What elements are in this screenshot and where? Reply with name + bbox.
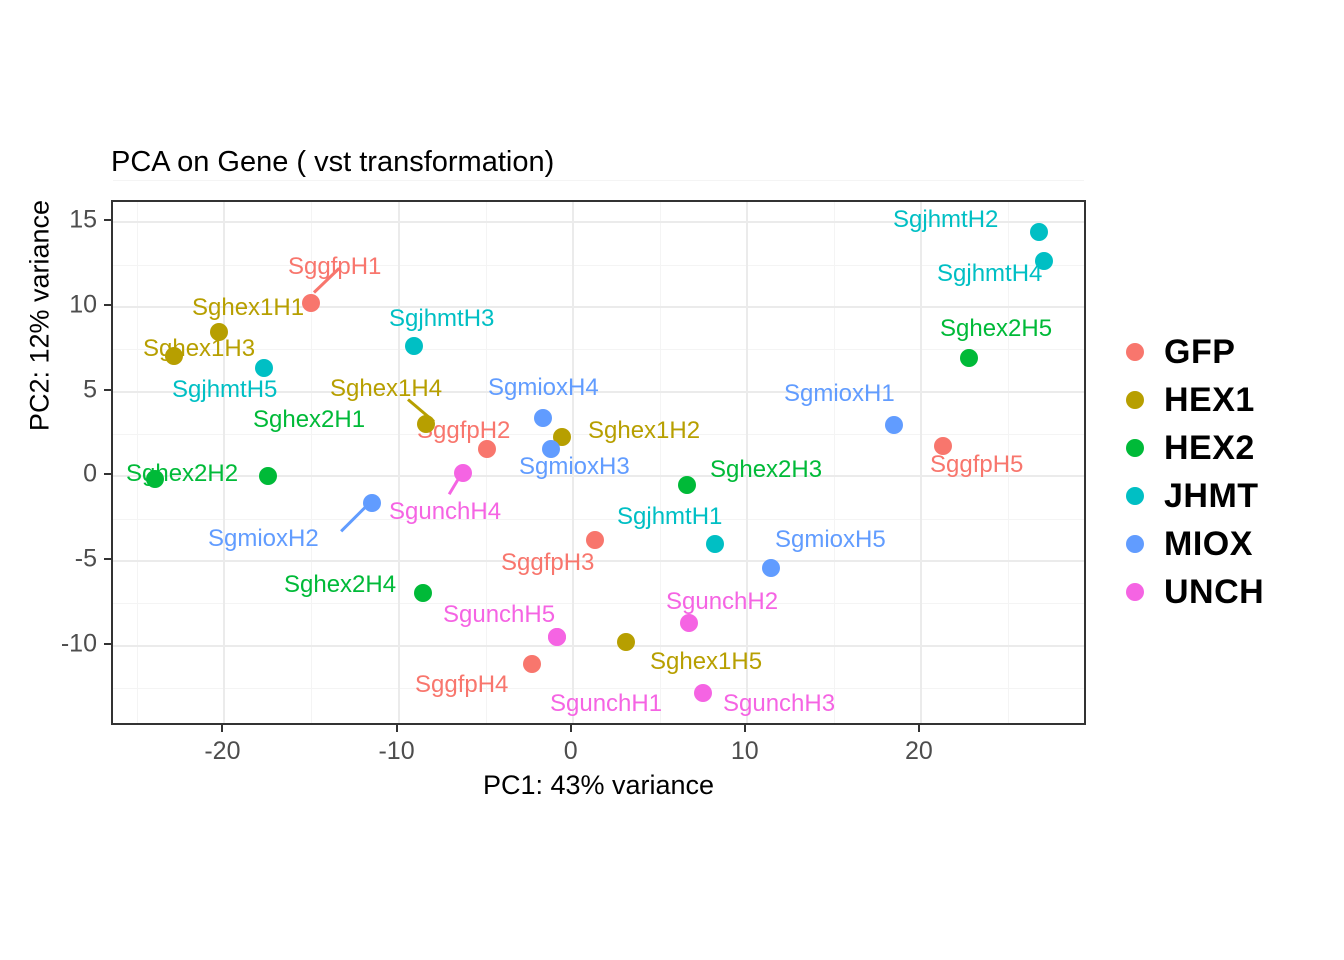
legend-item-hex2[interactable]: HEX2: [1126, 424, 1264, 472]
point-label: SgmioxH5: [775, 528, 886, 552]
point-label: Sghex1H2: [588, 419, 700, 443]
legend-item-label: UNCH: [1164, 573, 1264, 612]
legend-key-dot-icon: [1126, 439, 1144, 457]
legend-item-label: HEX2: [1164, 429, 1255, 468]
point-label: SgjhmtH2: [893, 208, 998, 232]
x-tick-label: 20: [905, 737, 933, 766]
point-label: SggfpH1: [288, 255, 381, 279]
chart-title: PCA on Gene ( vst transformation): [111, 146, 554, 179]
gridline-minor-y: [113, 603, 1084, 604]
gridline-minor-y: [113, 688, 1084, 689]
data-point[interactable]: [934, 437, 952, 455]
x-tick-label: 10: [731, 737, 759, 766]
data-point[interactable]: [417, 415, 435, 433]
point-label: SgunchH1: [550, 692, 662, 716]
point-label: Sghex2H3: [710, 458, 822, 482]
data-point[interactable]: [210, 323, 228, 341]
legend-item-label: MIOX: [1164, 525, 1253, 564]
data-point[interactable]: [146, 470, 164, 488]
point-label: SggfpH3: [501, 551, 594, 575]
legend-item-label: HEX1: [1164, 381, 1255, 420]
y-tick-mark: [104, 558, 111, 560]
data-point[interactable]: [478, 440, 496, 458]
data-point[interactable]: [706, 535, 724, 553]
data-point[interactable]: [548, 628, 566, 646]
legend-item-gfp[interactable]: GFP: [1126, 328, 1264, 376]
data-point[interactable]: [454, 464, 472, 482]
data-point[interactable]: [534, 409, 552, 427]
legend-key-dot-icon: [1126, 583, 1144, 601]
data-point[interactable]: [414, 584, 432, 602]
legend: GFPHEX1HEX2JHMTMIOXUNCH: [1126, 328, 1264, 616]
gridline-major-y: [113, 645, 1084, 647]
data-point[interactable]: [586, 531, 604, 549]
legend-key-dot-icon: [1126, 487, 1144, 505]
data-point[interactable]: [680, 614, 698, 632]
point-label: Sghex1H4: [330, 377, 442, 401]
point-label: SgunchH2: [666, 590, 778, 614]
legend-item-label: JHMT: [1164, 477, 1259, 516]
data-point[interactable]: [960, 349, 978, 367]
data-point[interactable]: [678, 476, 696, 494]
point-label: Sghex1H1: [192, 296, 304, 320]
x-tick-mark: [744, 725, 746, 732]
data-point[interactable]: [1035, 252, 1053, 270]
point-label: SgmioxH4: [488, 376, 599, 400]
y-tick-label: -10: [25, 629, 97, 658]
data-point[interactable]: [762, 559, 780, 577]
point-label: SgmioxH2: [208, 527, 319, 551]
legend-item-jhmt[interactable]: JHMT: [1126, 472, 1264, 520]
data-point[interactable]: [885, 416, 903, 434]
point-label: Sghex2H5: [940, 317, 1052, 341]
point-label: SgunchH4: [389, 500, 501, 524]
legend-item-unch[interactable]: UNCH: [1126, 568, 1264, 616]
y-tick-mark: [104, 219, 111, 221]
legend-key-dot-icon: [1126, 391, 1144, 409]
x-tick-mark: [396, 725, 398, 732]
data-point[interactable]: [542, 440, 560, 458]
point-label: SgjhmtH1: [617, 505, 722, 529]
legend-item-miox[interactable]: MIOX: [1126, 520, 1264, 568]
data-point[interactable]: [255, 359, 273, 377]
x-tick-mark: [221, 725, 223, 732]
y-tick-mark: [104, 389, 111, 391]
gridline-minor-y: [113, 349, 1084, 350]
x-tick-mark: [918, 725, 920, 732]
point-label: Sghex2H4: [284, 573, 396, 597]
point-label: SgmioxH1: [784, 382, 895, 406]
x-tick-label: 0: [564, 737, 578, 766]
pca-figure: PCA on Gene ( vst transformation) -20-10…: [0, 0, 1344, 960]
point-label: SgunchH3: [723, 692, 835, 716]
y-tick-mark: [104, 304, 111, 306]
x-axis-title: PC1: 43% variance: [111, 770, 1086, 801]
y-tick-mark: [104, 473, 111, 475]
y-tick-label: -5: [25, 545, 97, 574]
point-label: SgjhmtH3: [389, 307, 494, 331]
x-tick-label: -20: [204, 737, 240, 766]
data-point[interactable]: [617, 633, 635, 651]
x-tick-label: -10: [378, 737, 414, 766]
x-tick-mark: [570, 725, 572, 732]
point-label: Sghex2H2: [126, 462, 238, 486]
point-label: Sghex1H5: [650, 650, 762, 674]
legend-item-label: GFP: [1164, 333, 1235, 372]
data-point[interactable]: [259, 467, 277, 485]
data-point[interactable]: [1030, 223, 1048, 241]
point-label: Sghex1H3: [143, 337, 255, 361]
data-point[interactable]: [165, 347, 183, 365]
point-label: SgmioxH3: [519, 455, 630, 479]
data-point[interactable]: [523, 655, 541, 673]
data-point[interactable]: [405, 337, 423, 355]
gridline-minor-y: [113, 519, 1084, 520]
y-axis-title: PC2: 12% variance: [25, 116, 56, 516]
legend-key-dot-icon: [1126, 535, 1144, 553]
point-label: SgjhmtH5: [172, 378, 277, 402]
point-label: Sghex2H1: [253, 408, 365, 432]
data-point[interactable]: [694, 684, 712, 702]
point-label: SgjhmtH4: [937, 262, 1042, 286]
gridline-minor-y: [113, 180, 1084, 181]
gridline-major-y: [113, 560, 1084, 562]
legend-key-dot-icon: [1126, 343, 1144, 361]
point-label: SggfpH5: [930, 453, 1023, 477]
data-point[interactable]: [363, 494, 381, 512]
y-tick-mark: [104, 643, 111, 645]
point-label: SgunchH5: [443, 603, 555, 627]
data-point[interactable]: [302, 294, 320, 312]
point-label: SggfpH4: [415, 673, 508, 697]
legend-item-hex1[interactable]: HEX1: [1126, 376, 1264, 424]
